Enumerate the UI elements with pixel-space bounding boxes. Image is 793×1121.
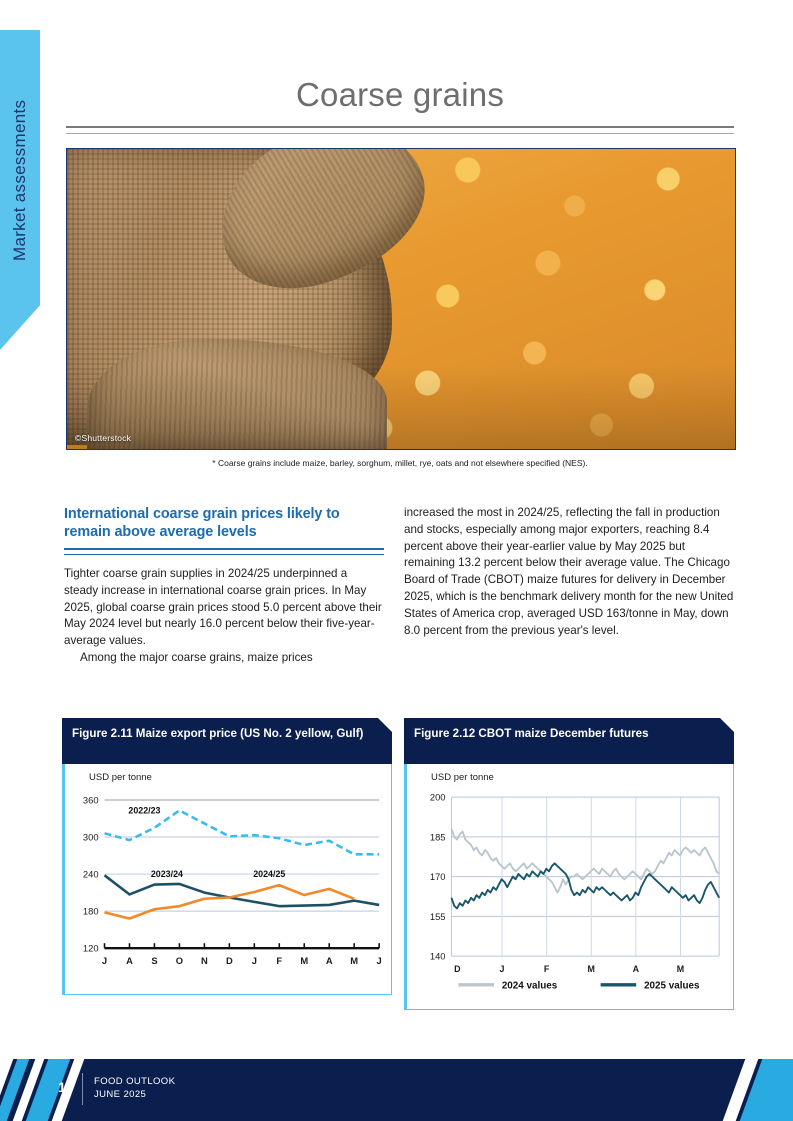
left-text-column: International coarse grain prices likely… [64,505,384,667]
y-tick-label: 200 [430,793,446,803]
x-tick-label: A [326,956,333,966]
footer-divider [82,1073,83,1105]
x-tick-label: O [176,956,183,966]
y-tick-label: 185 [430,832,446,842]
x-tick-label: M [350,956,358,966]
title-divider [66,126,734,134]
x-tick-label: F [544,964,550,974]
page-footer: 16 FOOD OUTLOOK JUNE 2025 [0,1059,793,1121]
photo-vignette [67,149,735,449]
figure-2-12-title: Figure 2.12 CBOT maize December futures [404,718,734,764]
figure-2-12-plot: 140155170185200DJFMAM2024 values2025 val… [407,764,733,1009]
x-tick-label: D [226,956,233,966]
subhead-divider [64,548,384,555]
figure-2-11-title: Figure 2.11 Maize export price (US No. 2… [62,718,392,764]
series-annotation: 2023/24 [151,869,183,879]
legend-label: 2024 values [502,981,558,992]
section-tab-label: Market assessments [0,30,40,330]
paragraph: Tighter coarse grain supplies in 2024/25… [64,566,384,650]
x-tick-label: J [252,956,257,966]
y-tick-label: 300 [83,832,99,842]
figure-2-11: Figure 2.11 Maize export price (US No. 2… [62,718,392,1018]
y-tick-label: 180 [83,907,99,917]
footer-publication: FOOD OUTLOOK [94,1076,175,1089]
figure-footnote: * Coarse grains include maize, barley, s… [66,458,734,468]
x-tick-label: M [588,964,595,974]
right-text-column: increased the most in 2024/25, reflectin… [404,505,734,639]
y-tick-label: 240 [83,870,99,880]
figure-2-11-plot: 120180240300360JASONDJFMAMJ2022/232023/2… [65,764,391,994]
y-tick-label: 360 [83,795,99,805]
series-line-2022-23 [105,810,380,854]
page-title: Coarse grains [66,76,734,114]
x-tick-label: N [201,956,208,966]
page-number: 16 [58,1079,74,1095]
photo-credit: ©Shutterstock [75,433,131,443]
hero-photo: ©Shutterstock [66,148,736,450]
footer-stripes-right [603,1059,793,1121]
series-annotation: 2022/23 [128,806,160,816]
article-subhead: International coarse grain prices likely… [64,505,384,541]
paragraph: increased the most in 2024/25, reflectin… [404,505,734,639]
figure-2-12: Figure 2.12 CBOT maize December futures … [404,718,734,1018]
figure-2-12-body: USD per tonne 140155170185200DJFMAM2024 … [404,764,734,1010]
y-tick-label: 120 [83,944,99,954]
y-tick-label: 155 [430,912,446,922]
x-tick-label: D [454,964,461,974]
footer-text: FOOD OUTLOOK JUNE 2025 [94,1076,175,1101]
paragraph: Among the major coarse grains, maize pri… [64,650,384,667]
series-line-2025-values [451,863,719,908]
x-tick-label: J [377,956,382,966]
series-line-2024-values [451,829,719,893]
x-tick-label: S [151,956,157,966]
x-tick-label: J [500,964,505,974]
x-tick-label: A [126,956,133,966]
x-tick-label: A [633,964,640,974]
figure-2-11-body: USD per tonne 120180240300360JASONDJFMAM… [62,764,392,995]
x-tick-label: J [102,956,107,966]
document-page: Market assessments Coarse grains ©Shutte… [0,0,793,1121]
x-tick-label: M [677,964,684,974]
series-line-2023-24 [105,875,380,906]
legend-label: 2025 values [644,981,700,992]
y-tick-label: 140 [430,952,446,962]
y-tick-label: 170 [430,872,446,882]
x-tick-label: F [276,956,282,966]
series-annotation: 2024/25 [253,869,285,879]
footer-issue: JUNE 2025 [94,1089,175,1102]
x-tick-label: M [300,956,308,966]
